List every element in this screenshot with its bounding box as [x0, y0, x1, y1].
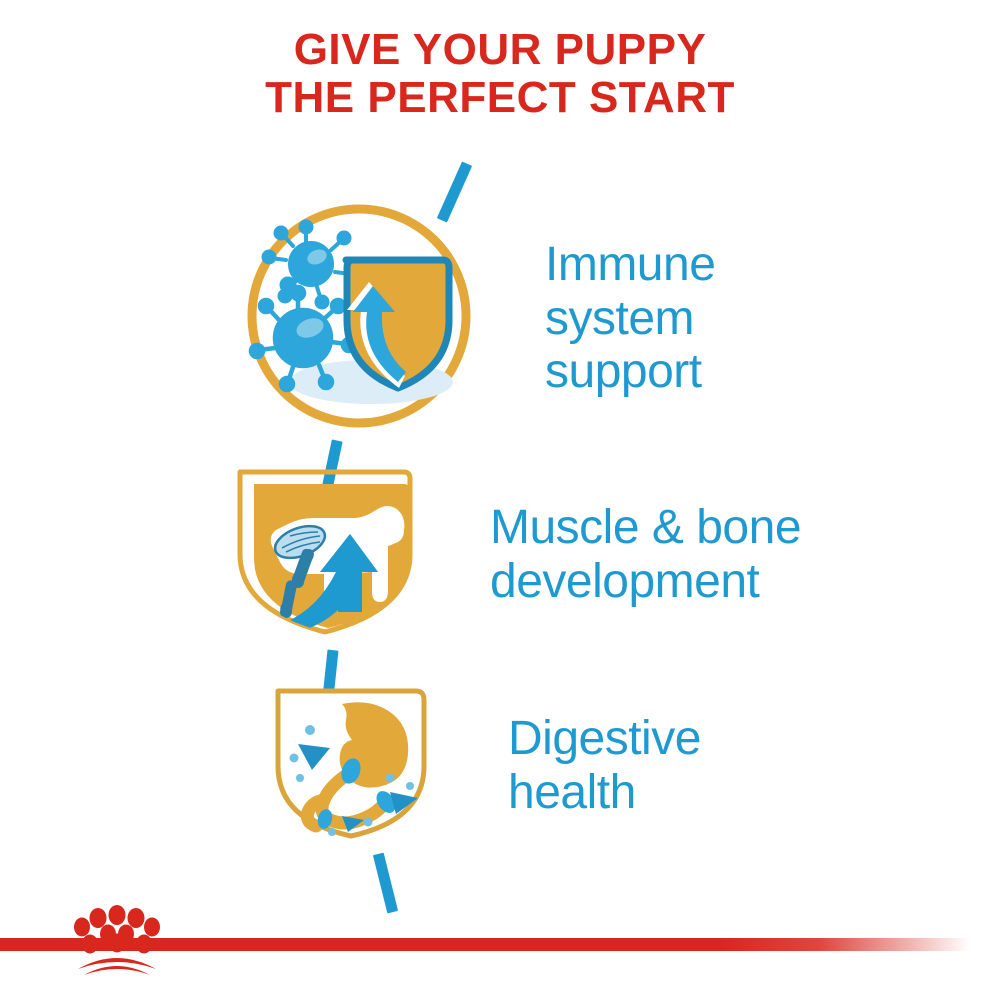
headline-line-1: GIVE YOUR PUPPY [0, 26, 1000, 74]
benefit-row-muscle-bone: Muscle & bone development [228, 462, 801, 647]
immune-shield-icon [243, 200, 475, 437]
benefit-label-muscle-bone: Muscle & bone development [490, 501, 801, 609]
connector-dash-bottom [373, 853, 398, 914]
digestive-shield-icon-wrap: Digestive health [268, 682, 701, 849]
puppy-benefits-poster: GIVE YOUR PUPPY THE PERFECT START [0, 0, 1000, 1000]
royal-canin-crown-icon [68, 903, 166, 975]
benefit-label-immune: Immune system support [545, 238, 715, 399]
headline-line-2: THE PERFECT START [0, 74, 1000, 122]
puppy-shield-icon [228, 462, 428, 647]
digestive-shield-icon [268, 682, 436, 849]
page-title: GIVE YOUR PUPPY THE PERFECT START [0, 26, 1000, 121]
benefit-label-digestive: Digestive health [508, 712, 701, 820]
benefit-row-immune: Immune system support [243, 200, 715, 437]
